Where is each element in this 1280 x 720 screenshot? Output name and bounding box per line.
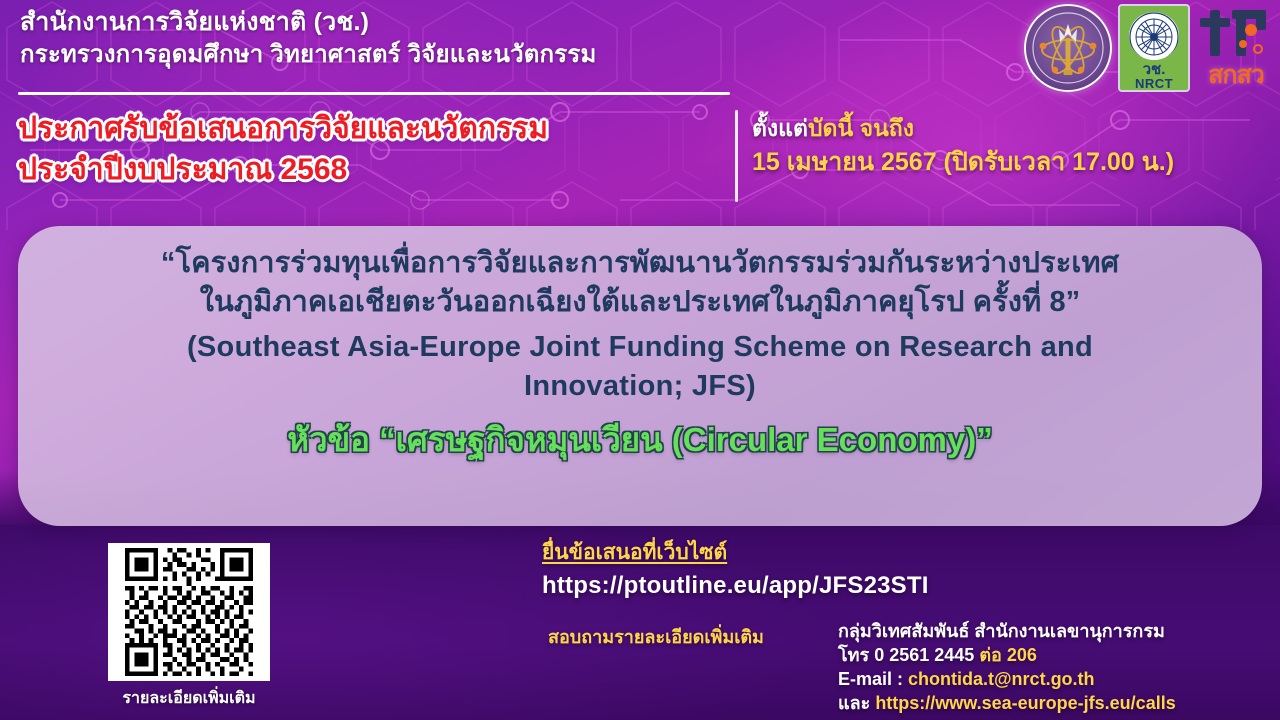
contact-phone-line: โทร 0 2561 2445 ต่อ 206 (838, 644, 1176, 668)
deadline-prefix: ตั้งแต่ (752, 115, 808, 141)
qr-code-block[interactable]: รายละเอียดเพิ่มเติม (108, 543, 270, 711)
nrct-emblem-icon (1129, 12, 1179, 60)
announcement-title: ประกาศรับข้อเสนอการวิจัยและนวัตกรรม ประจ… (18, 108, 718, 191)
contact-phone-extension: ต่อ 206 (979, 645, 1037, 665)
project-english-title: (Southeast Asia-Europe Joint Funding Sch… (40, 328, 1240, 406)
vertical-divider (735, 110, 738, 202)
contact-email-prefix: E-mail : (838, 669, 908, 689)
submit-url-link[interactable]: https://ptoutline.eu/app/JFS23STI (542, 572, 929, 600)
nrct-english-label: NRCT (1135, 77, 1173, 90)
submission-block: ยื่นข้อเสนอที่เว็บไซต์ https://ptoutline… (542, 536, 929, 600)
qr-code-image[interactable] (108, 543, 270, 681)
project-thai-title: “โครงการร่วมทุนเพื่อการวิจัยและการพัฒนาน… (40, 244, 1240, 322)
qr-caption: รายละเอียดเพิ่มเติม (108, 686, 270, 711)
announcement-line-2: ประจำปีงบประมาณ 2568 (18, 149, 718, 190)
org-line-2: กระทรวงการอุดมศึกษา วิทยาศาสตร์ วิจัยและ… (20, 39, 740, 71)
contact-email-line: E-mail : chontida.t@nrct.go.th (838, 668, 1176, 692)
tsri-logo: สกสว (1196, 4, 1276, 88)
contact-phone: โทร 0 2561 2445 (838, 645, 979, 665)
mhesi-seal-icon (1024, 4, 1112, 92)
deadline-highlight: บัดนี้ จนถึง (808, 115, 914, 141)
header-divider (18, 92, 730, 95)
nrct-label: วช. NRCT (1135, 62, 1173, 90)
contact-office: กลุ่มวิเทศสัมพันธ์ สำนักงานเลขานุการกรม (838, 620, 1176, 644)
eng-title-line-1: (Southeast Asia-Europe Joint Funding Sch… (40, 328, 1240, 367)
logo-group: วช. NRCT สกสว (1024, 4, 1276, 94)
contact-website-link[interactable]: https://www.sea-europe-jfs.eu/calls (875, 693, 1175, 713)
contact-details: กลุ่มวิเทศสัมพันธ์ สำนักงานเลขานุการกรม … (838, 620, 1176, 716)
org-line-1: สำนักงานการวิจัยแห่งชาติ (วช.) (20, 6, 740, 39)
deadline-line-1: ตั้งแต่บัดนี้ จนถึง (752, 112, 1280, 145)
organization-header: สำนักงานการวิจัยแห่งชาติ (วช.) กระทรวงกา… (20, 6, 740, 71)
contact-label: สอบถามรายละเอียดเพิ่มเติม (548, 622, 764, 651)
nrct-thai-label: วช. (1135, 62, 1173, 77)
thai-title-line-1: “โครงการร่วมทุนเพื่อการวิจัยและการพัฒนาน… (40, 244, 1240, 283)
nrct-logo: วช. NRCT (1118, 4, 1190, 92)
topic-heading: หัวข้อ “เศรษฐกิจหมุนเวียน (Circular Econ… (40, 419, 1240, 462)
deadline-block: ตั้งแต่บัดนี้ จนถึง 15 เมษายน 2567 (ปิดร… (752, 112, 1280, 180)
thai-title-line-2: ในภูมิภาคเอเชียตะวันออกเฉียงใต้และประเทศ… (40, 283, 1240, 322)
contact-email-address[interactable]: chontida.t@nrct.go.th (908, 669, 1095, 689)
contact-web-line: และ https://www.sea-europe-jfs.eu/calls (838, 692, 1176, 716)
contact-web-prefix: และ (838, 693, 875, 713)
tsri-thai-label: สกสว (1196, 63, 1276, 88)
eng-title-line-2: Innovation; JFS) (40, 367, 1240, 406)
main-content-panel: “โครงการร่วมทุนเพื่อการวิจัยและการพัฒนาน… (18, 226, 1262, 526)
poster-canvas: สำนักงานการวิจัยแห่งชาติ (วช.) กระทรวงกา… (0, 0, 1280, 720)
deadline-date: 15 เมษายน 2567 (ปิดรับเวลา 17.00 น.) (752, 145, 1280, 181)
announcement-line-1: ประกาศรับข้อเสนอการวิจัยและนวัตกรรม (18, 108, 718, 149)
submit-label: ยื่นข้อเสนอที่เว็บไซต์ (542, 536, 929, 569)
